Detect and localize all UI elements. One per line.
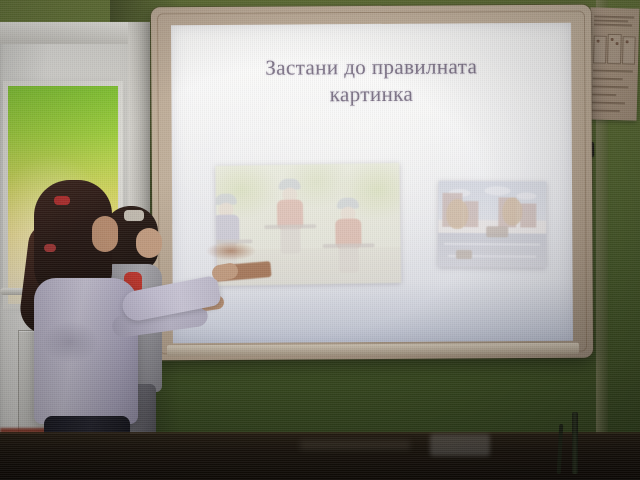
front-girl-face [92,216,118,252]
front-girl-hair-tie [54,196,70,205]
front-girl-top-fold [44,312,110,372]
slide-photo-street[interactable] [438,181,547,268]
baseboard-scuff-secondary [300,440,410,450]
wall-poster [588,7,640,120]
whiteboard-marker-tray[interactable] [167,343,579,357]
classroom-photo-scene: Застани до правилната картинка [0,0,640,480]
slide-photo-bicycles[interactable] [215,163,401,286]
slide-title-line-2: картинка [195,80,547,109]
pointer-pole[interactable] [572,412,578,474]
board-bottom-shading [173,281,573,343]
whiteboard-surface[interactable]: Застани до правилната картинка [171,23,573,343]
front-girl-hair-tie-lower [44,244,56,252]
slide-title-line-1: Застани до правилната [195,53,547,82]
baseboard-scuff [430,434,490,456]
slide-title: Застани до правилната картинка [195,53,547,109]
